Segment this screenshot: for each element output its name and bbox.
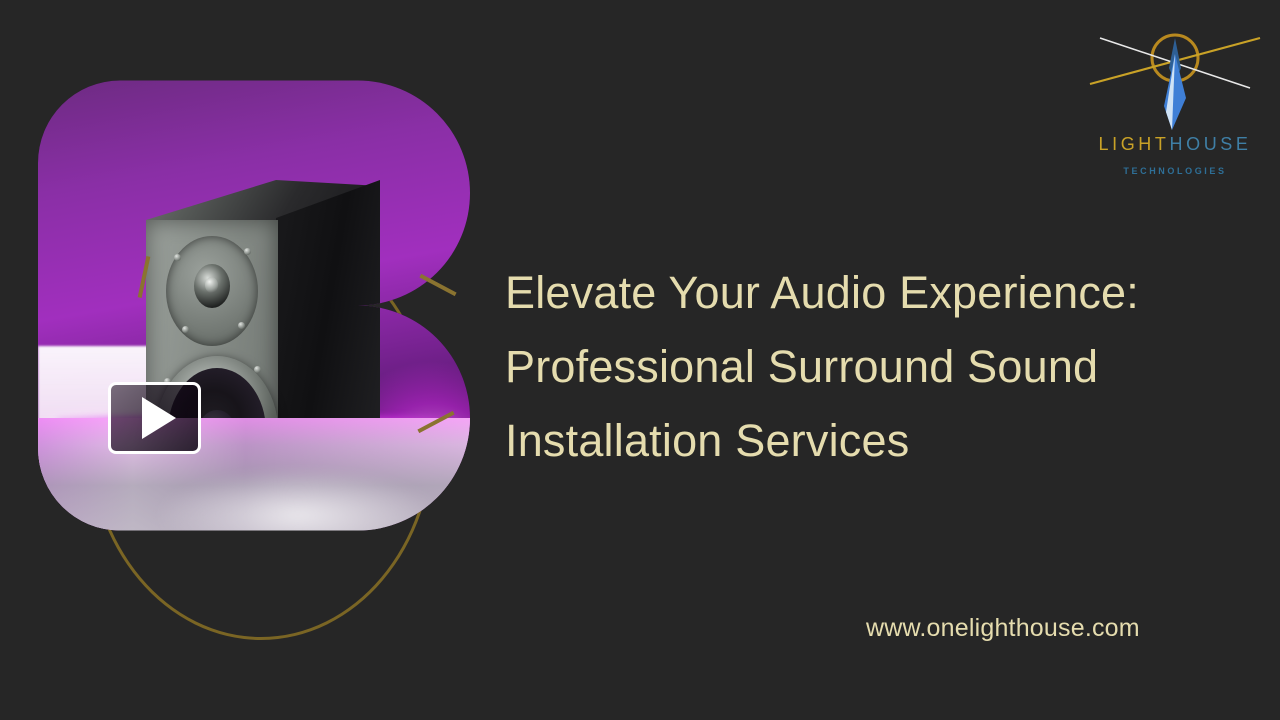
logo-word-house: HOUSE bbox=[1170, 134, 1252, 154]
tweeter-screw-br bbox=[238, 322, 245, 329]
speaker-photo: GIGABYTE bbox=[38, 68, 470, 568]
tweeter-dome bbox=[194, 264, 230, 308]
play-triangle-icon bbox=[142, 397, 176, 439]
media-image-mask: GIGABYTE bbox=[38, 68, 470, 568]
tweeter-screw-tl bbox=[174, 254, 181, 261]
tweeter-screw-bl bbox=[182, 326, 189, 333]
logo-word-light: LIGHT bbox=[1098, 134, 1169, 154]
tweeter-screw-tr bbox=[244, 248, 251, 255]
logo-tagline: TECHNOLOGIES bbox=[1086, 166, 1264, 176]
brand-logo[interactable]: LIGHTHOUSE TECHNOLOGIES bbox=[1086, 24, 1264, 174]
photo-floor-sheen bbox=[158, 470, 438, 560]
logo-wordmark: LIGHTHOUSE bbox=[1086, 134, 1264, 155]
page-title: Elevate Your Audio Experience: Professio… bbox=[505, 256, 1195, 478]
play-button[interactable] bbox=[108, 382, 201, 454]
presentation-slide: GIGABYTE LIGHTHOUSE TECHNOLOGIES E bbox=[0, 0, 1280, 720]
website-url[interactable]: www.onelighthouse.com bbox=[866, 614, 1140, 643]
lighthouse-mark-icon bbox=[1086, 24, 1264, 136]
media-video-block[interactable]: GIGABYTE bbox=[38, 68, 470, 568]
woofer-screw-tr bbox=[254, 366, 261, 373]
